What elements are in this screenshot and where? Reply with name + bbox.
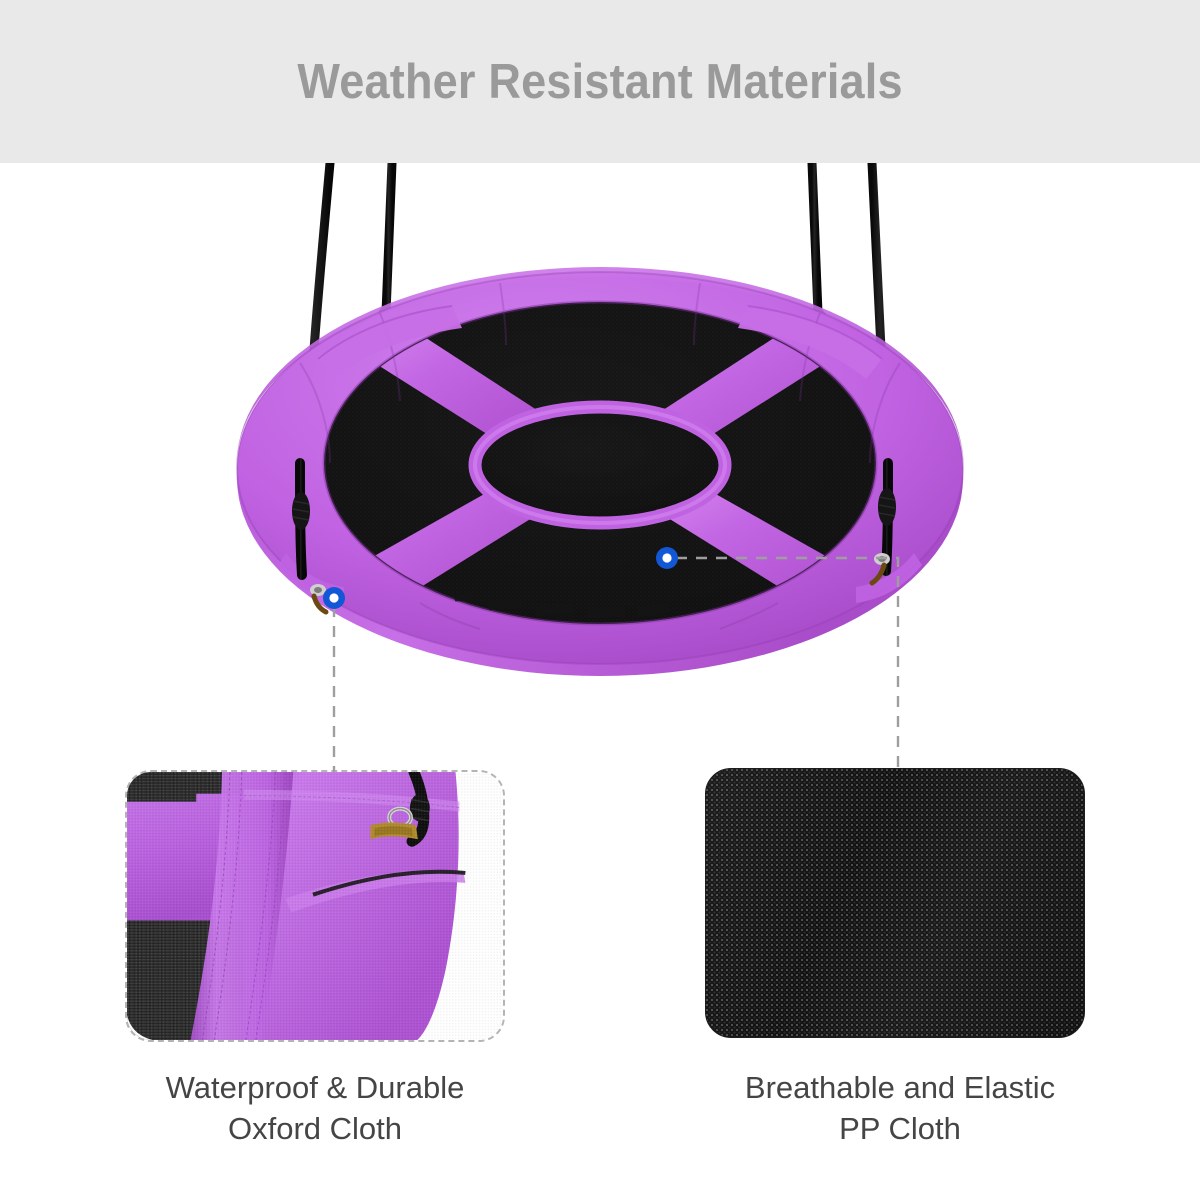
swing-illustration [0, 163, 1200, 740]
caption-oxford-cloth: Waterproof & Durable Oxford Cloth [105, 1068, 525, 1150]
caption-pp-cloth: Breathable and Elastic PP Cloth [690, 1068, 1110, 1150]
header-band: Weather Resistant Materials [0, 0, 1200, 163]
pp-mesh-sheen [706, 769, 1084, 1037]
oxford-cloth-photo [127, 772, 503, 1041]
rope-knot-lower-left [292, 492, 310, 530]
rope-knot-lower-right [878, 488, 896, 526]
oxford-cloth-detail-panel [125, 770, 505, 1042]
swing-seat [237, 267, 963, 676]
hero-product-image [0, 163, 1200, 740]
pp-cloth-detail-panel [705, 768, 1085, 1038]
page-title: Weather Resistant Materials [297, 54, 902, 110]
